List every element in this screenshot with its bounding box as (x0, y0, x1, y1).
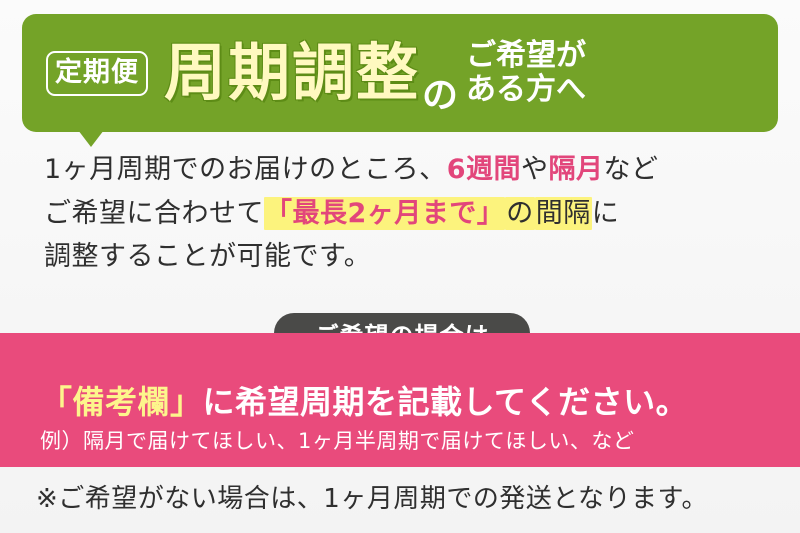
desc-2c: の (505, 197, 535, 230)
banner-subtitle-line1: ご希望が (466, 39, 586, 73)
instruction-heading-rest: に希望周期を記載してください。 (203, 383, 689, 421)
desc-1c: や (521, 154, 549, 185)
banner-title: 周期調整 (164, 42, 420, 104)
footer-note: ※ご希望がない場合は、1ヶ月周期での発送となります。 (36, 478, 708, 515)
banner-pointer (78, 130, 104, 147)
desc-2e: に (592, 198, 620, 229)
desc-2a: ご希望に合わせて (44, 198, 264, 229)
desc-1e: など (603, 154, 658, 185)
banner-subtitle-line2: ある方へ (466, 73, 586, 107)
banner-subtitle: ご希望が ある方へ (466, 39, 586, 106)
header-banner: 定期便 周期調整 の ご希望が ある方へ (22, 14, 778, 132)
instruction-heading: 「備考欄」に希望周期を記載してください。 (40, 377, 688, 423)
subscription-tag: 定期便 (46, 51, 148, 96)
instruction-band: 「備考欄」に希望周期を記載してください。 例）隔月で届けてほしい、1ヶ月半周期で… (0, 333, 800, 467)
instruction-field-name: 「備考欄」 (40, 383, 203, 421)
desc-2b: 「最長2ヶ月まで」 (264, 197, 505, 230)
description-text: 1ヶ月周期でのお届けのところ、6週間や隔月など ご希望に合わせて「最長2ヶ月まで… (44, 148, 774, 279)
banner-particle: の (422, 78, 458, 114)
desc-3: 調整することが可能です。 (44, 241, 371, 272)
desc-1b: 6週間 (447, 154, 521, 185)
desc-1d: 隔月 (548, 154, 603, 185)
desc-2d: 間隔 (535, 197, 592, 230)
desc-1a: 1ヶ月周期でのお届けのところ、 (44, 154, 447, 185)
promo-page: 定期便 周期調整 の ご希望が ある方へ 1ヶ月周期でのお届けのところ、6週間や… (0, 0, 800, 533)
description-line-1: 1ヶ月周期でのお届けのところ、6週間や隔月など (44, 148, 774, 192)
description-line-2: ご希望に合わせて「最長2ヶ月まで」の間隔に (44, 192, 774, 236)
instruction-example: 例）隔月で届けてほしい、1ヶ月半周期で届けてほしい、など (40, 425, 634, 455)
description-line-3: 調整することが可能です。 (44, 235, 774, 279)
